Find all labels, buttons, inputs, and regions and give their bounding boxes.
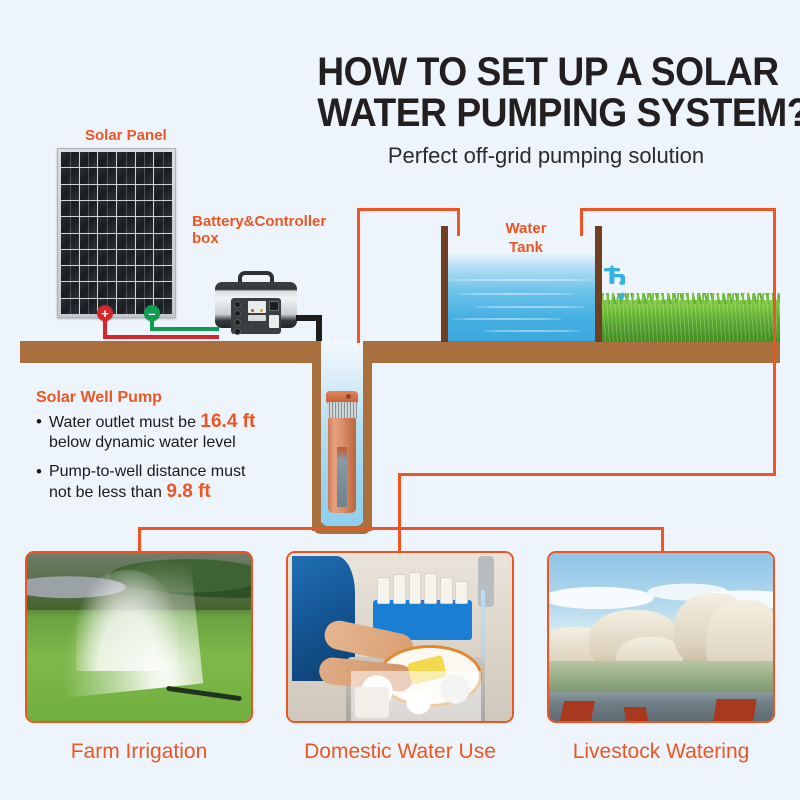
infographic-stage: HOW TO SET UP A SOLAR WATER PUMPING SYST… (0, 0, 800, 800)
domestic-water-use-photo (288, 553, 512, 721)
application-card-farm-irrigation[interactable] (25, 551, 253, 723)
solar-well-pump-graphic (325, 391, 359, 516)
water-tank-post-left (441, 226, 448, 342)
application-card-livestock-watering[interactable] (547, 551, 775, 723)
label-battery-controller: Battery&Controller box (192, 213, 352, 247)
connector-right-edge-vertical (773, 208, 776, 476)
connector-tank-left-drop (457, 208, 460, 236)
pump-label-strip (337, 447, 347, 507)
page-title-line-1: HOW TO SET UP A SOLAR (317, 52, 775, 93)
pump-bullet-2: • Pump-to-well distance must not be less… (36, 462, 304, 503)
bullet-1-value: 16.4 ft (200, 411, 255, 432)
positive-wire-horizontal (103, 335, 219, 339)
running-water-stream (481, 590, 485, 664)
faucet-icon (603, 265, 629, 295)
box-output-ports (233, 301, 246, 331)
ground-left (20, 341, 312, 363)
solar-panel-graphic (57, 148, 176, 318)
label-water-tank-line1: Water (505, 220, 546, 237)
connector-branch-domestic (398, 527, 401, 552)
battery-controller-box-graphic (215, 271, 297, 333)
label-water-tank: Water Tank (491, 219, 561, 257)
page-subtitle: Perfect off-grid pumping solution (300, 143, 792, 169)
negative-wire-horizontal (150, 327, 219, 331)
bullet-1-text-prefix: Water outlet must be (49, 414, 200, 431)
well-wall-right (363, 341, 372, 531)
pump-lifting-eye (346, 394, 351, 399)
connector-tank-to-right-edge (580, 208, 776, 211)
water-tank-post-right (595, 226, 602, 342)
label-battery-controller-line2: box (192, 230, 219, 247)
box-brand-plate (248, 315, 266, 321)
application-card-domestic-water-use[interactable] (286, 551, 514, 723)
ground-right (372, 341, 780, 363)
solar-panel-cells (61, 152, 172, 314)
garden-hose (166, 685, 242, 701)
farm-irrigation-photo (27, 553, 251, 721)
box-ac-socket (269, 315, 279, 328)
pump-bullet-1: • Water outlet must be 16.4 ft below dyn… (36, 412, 304, 453)
well-wall-left (312, 341, 321, 531)
pump-intake-screen (327, 402, 357, 419)
mug-in-sink (355, 687, 389, 717)
connector-branch-livestock (661, 527, 664, 552)
box-body (215, 282, 297, 328)
sprinkler-spray-core (76, 570, 179, 671)
connector-tree-stem (398, 473, 401, 530)
connector-branch-farm (138, 527, 141, 552)
solar-well-pump-heading: Solar Well Pump (36, 389, 304, 407)
caption-livestock-watering: Livestock Watering (547, 740, 775, 764)
label-solar-panel: Solar Panel (85, 127, 167, 144)
bullet-2-value: 9.8 ft (166, 481, 210, 502)
bullet-2-text-line2: not be less than (49, 484, 166, 501)
box-led-amber (260, 309, 263, 312)
water-tank-water (447, 253, 595, 341)
box-led-red (251, 309, 254, 312)
connector-tank-right-rise (580, 208, 583, 236)
negative-terminal-icon: – (144, 305, 160, 321)
grass-field (602, 300, 780, 342)
bullet-1-text-line2: below dynamic water level (49, 434, 236, 451)
box-switch (269, 301, 279, 311)
positive-terminal-icon: + (97, 305, 113, 321)
connector-well-to-tank-horizontal (357, 208, 460, 211)
caption-domestic-water-use: Domestic Water Use (286, 740, 514, 764)
header-block: HOW TO SET UP A SOLAR WATER PUMPING SYST… (300, 52, 792, 169)
bullet-2-text-prefix: Pump-to-well distance must (49, 463, 246, 480)
livestock-watering-photo (549, 553, 773, 721)
connector-well-to-tank-vertical (357, 208, 360, 343)
label-battery-controller-line1: Battery&Controller (192, 213, 326, 230)
solar-well-pump-info-block: Solar Well Pump • Water outlet must be 1… (36, 389, 304, 503)
caption-farm-irrigation: Farm Irrigation (25, 740, 253, 764)
metal-trough (549, 692, 773, 721)
page-title-line-2: WATER PUMPING SYSTEM? (317, 93, 775, 134)
connector-tree-crossbar (138, 527, 664, 530)
bullet-dot-icon: • (36, 412, 42, 453)
connector-bottom-horizontal-return (398, 473, 776, 476)
bullet-dot-icon: • (36, 462, 42, 503)
